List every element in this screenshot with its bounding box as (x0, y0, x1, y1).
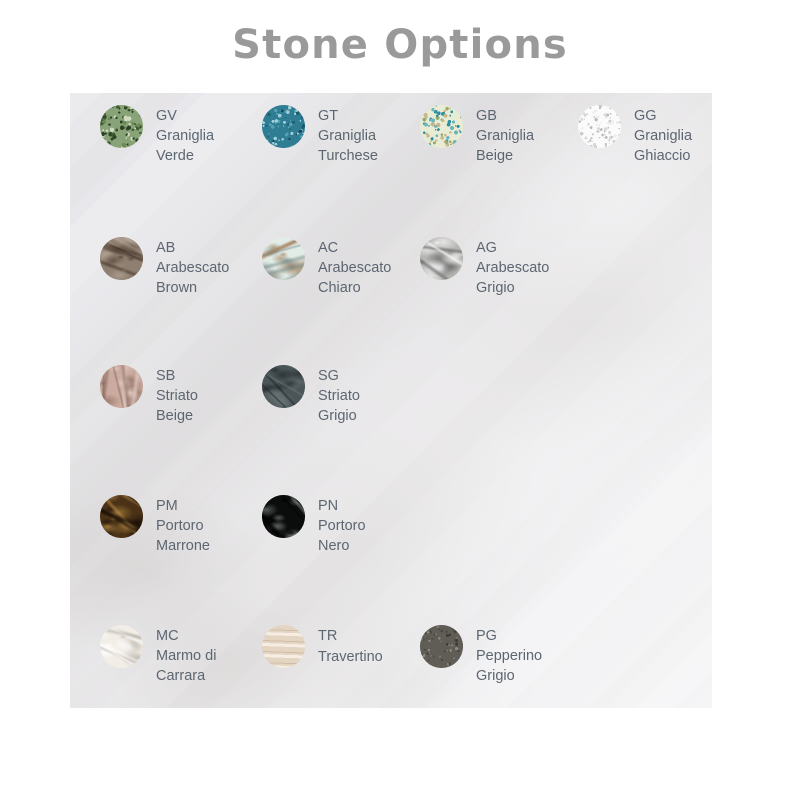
swatch-circle-pg[interactable] (420, 625, 463, 668)
swatch-texture (100, 495, 143, 538)
swatch-grid: GV Graniglia VerdeGT Graniglia TurcheseG… (70, 93, 712, 708)
stone-swatch-sb[interactable]: SB Striato Beige (100, 365, 198, 427)
swatch-label-ac: AC Arabescato Chiaro (318, 237, 391, 299)
stone-swatch-gv[interactable]: GV Graniglia Verde (100, 105, 214, 167)
swatch-circle-gg[interactable] (578, 105, 621, 148)
stone-swatch-ag[interactable]: AG Arabescato Grigio (420, 237, 549, 299)
swatch-texture (262, 495, 305, 538)
swatch-circle-gb[interactable] (420, 105, 463, 148)
swatch-texture (262, 105, 305, 148)
swatch-circle-ab[interactable] (100, 237, 143, 280)
swatch-label-sg: SG Striato Grigio (318, 365, 360, 427)
swatch-texture (262, 237, 305, 280)
stone-swatch-pn[interactable]: PN Portoro Nero (262, 495, 366, 557)
swatch-label-ag: AG Arabescato Grigio (476, 237, 549, 299)
swatch-texture (420, 625, 463, 668)
swatch-label-gv: GV Graniglia Verde (156, 105, 214, 167)
swatch-texture (100, 237, 143, 280)
stone-swatch-gg[interactable]: GG Graniglia Ghiaccio (578, 105, 692, 167)
stone-swatch-gb[interactable]: GB Graniglia Beige (420, 105, 534, 167)
stone-swatch-ab[interactable]: AB Arabescato Brown (100, 237, 229, 299)
swatch-texture (100, 105, 143, 148)
swatch-texture (100, 625, 143, 668)
swatch-label-mc: MC Marmo di Carrara (156, 625, 216, 687)
swatch-label-tr: TR Travertino (318, 626, 383, 666)
swatch-texture (420, 237, 463, 280)
swatch-circle-ag[interactable] (420, 237, 463, 280)
swatch-texture (578, 105, 621, 148)
stone-swatch-mc[interactable]: MC Marmo di Carrara (100, 625, 216, 687)
swatch-label-gg: GG Graniglia Ghiaccio (634, 105, 692, 167)
swatch-circle-ac[interactable] (262, 237, 305, 280)
swatch-circle-mc[interactable] (100, 625, 143, 668)
swatch-label-pg: PG Pepperino Grigio (476, 625, 542, 687)
swatch-circle-pn[interactable] (262, 495, 305, 538)
swatch-circle-gt[interactable] (262, 105, 305, 148)
swatch-label-pn: PN Portoro Nero (318, 495, 366, 557)
swatch-texture (420, 105, 463, 148)
stone-swatch-tr[interactable]: TR Travertino (262, 625, 383, 668)
swatch-circle-sg[interactable] (262, 365, 305, 408)
swatch-label-ab: AB Arabescato Brown (156, 237, 229, 299)
swatch-label-sb: SB Striato Beige (156, 365, 198, 427)
stone-swatch-gt[interactable]: GT Graniglia Turchese (262, 105, 378, 167)
page-title: Stone Options (0, 18, 800, 72)
stone-swatch-pm[interactable]: PM Portoro Marrone (100, 495, 210, 557)
swatch-texture (262, 625, 305, 668)
swatch-label-pm: PM Portoro Marrone (156, 495, 210, 557)
swatch-circle-pm[interactable] (100, 495, 143, 538)
stone-options-page: Stone Options GV Graniglia VerdeGT Grani… (0, 0, 800, 800)
swatch-circle-tr[interactable] (262, 625, 305, 668)
swatch-texture (100, 365, 143, 408)
swatch-label-gt: GT Graniglia Turchese (318, 105, 378, 167)
swatch-texture (262, 365, 305, 408)
stone-options-panel: GV Graniglia VerdeGT Graniglia TurcheseG… (70, 93, 712, 708)
swatch-circle-gv[interactable] (100, 105, 143, 148)
stone-swatch-ac[interactable]: AC Arabescato Chiaro (262, 237, 391, 299)
stone-swatch-pg[interactable]: PG Pepperino Grigio (420, 625, 542, 687)
swatch-label-gb: GB Graniglia Beige (476, 105, 534, 167)
stone-swatch-sg[interactable]: SG Striato Grigio (262, 365, 360, 427)
swatch-circle-sb[interactable] (100, 365, 143, 408)
